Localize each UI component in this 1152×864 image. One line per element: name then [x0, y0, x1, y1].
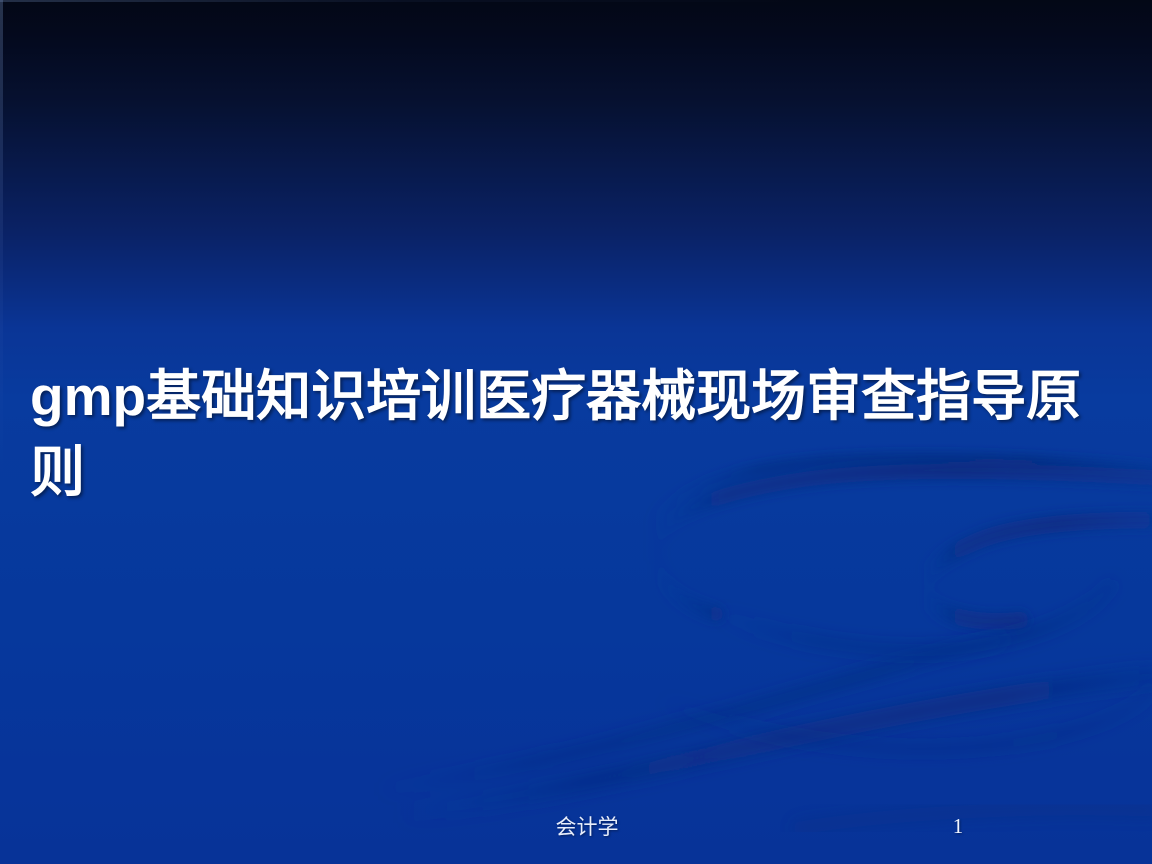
slide-title-cjk: 基础知识培训医疗器械现场审查指导原则 [30, 366, 1081, 503]
slide-title-latin-prefix: gmp [30, 365, 146, 427]
slide-canvas: gmp基础知识培训医疗器械现场审查指导原则 会计学 1 [0, 0, 1152, 864]
page-number: 1 [930, 812, 986, 840]
slide-title: gmp基础知识培训医疗器械现场审查指导原则 [30, 358, 1135, 511]
title-block: gmp基础知识培训医疗器械现场审查指导原则 [30, 358, 1135, 511]
footer-note-label: 会计学 [556, 813, 619, 841]
